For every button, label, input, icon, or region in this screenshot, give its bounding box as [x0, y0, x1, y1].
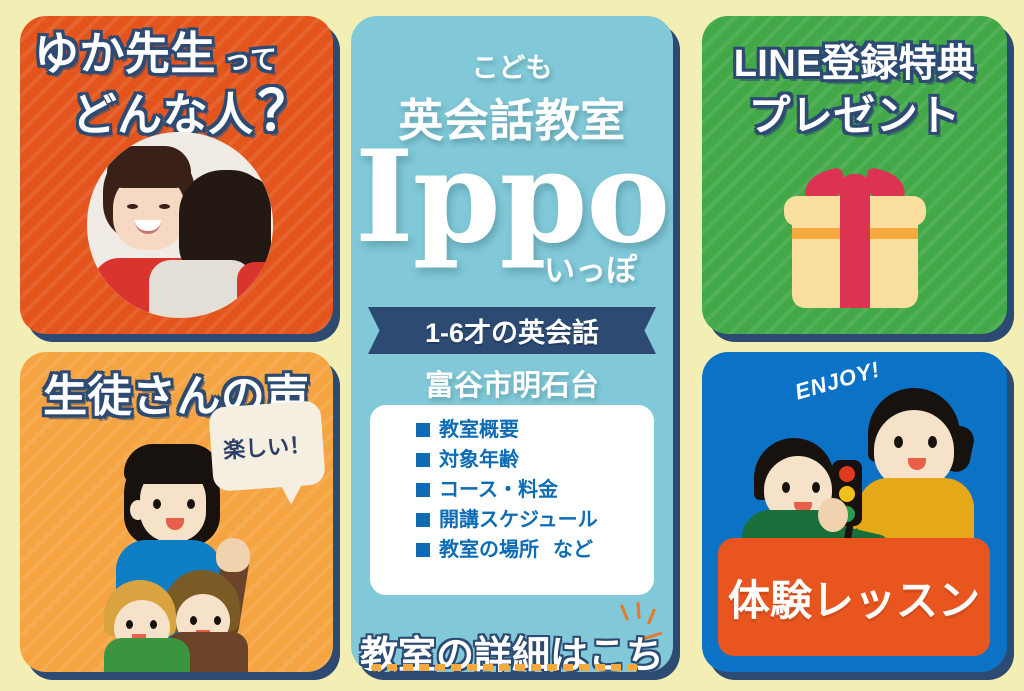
poster-root: ゆか先生って どんな人？ — [0, 0, 1024, 691]
list-item[interactable]: 教室概要 — [416, 419, 654, 441]
main-card-inner: こども 英会話教室 Ippo いっぽ 1-6才の英会話 富谷市明石台 教室概要 … — [351, 16, 673, 672]
info-list: 教室概要 対象年齢 コース・料金 開講スケジュール 教室の場所 など — [370, 405, 654, 595]
line-bonus-card[interactable]: LINE登録特典 プレゼント — [702, 16, 1007, 334]
gift-ribbon-vertical — [840, 190, 870, 308]
speech-bubble-text: 楽しい！ — [222, 427, 312, 465]
teacher-photo — [87, 132, 273, 318]
trial-lesson-banner[interactable]: 体験レッスン — [718, 538, 990, 656]
list-item[interactable]: 対象年齢 — [416, 449, 654, 471]
child2-eye-right — [214, 616, 221, 625]
square-bullet-icon — [416, 453, 430, 467]
girl-eye-right — [928, 436, 937, 448]
list-item[interactable]: 開講スケジュール — [416, 509, 654, 531]
square-bullet-icon — [416, 423, 430, 437]
square-bullet-icon — [416, 483, 430, 497]
square-bullet-icon — [416, 513, 430, 527]
mother-ear — [130, 500, 146, 520]
girl-eye-left — [894, 436, 903, 448]
square-bullet-icon — [416, 543, 430, 557]
age-range-ribbon-text: 1-6才の英会話 — [425, 311, 599, 350]
trial-lesson-banner-text: 体験レッスン — [728, 567, 980, 628]
teacher-arm — [237, 262, 273, 318]
traffic-light-red — [839, 466, 855, 482]
teacher-eye-left — [127, 204, 138, 209]
boy-eye-left — [782, 482, 790, 493]
child2-eye-left — [190, 616, 197, 625]
child1-torso — [104, 638, 190, 672]
teacher-headline: ゆか先生って どんな人？ — [20, 30, 333, 140]
line-card-inner: LINE登録特典 プレゼント — [702, 16, 1007, 334]
child2-hand — [216, 538, 250, 572]
list-item[interactable]: コース・料金 — [416, 479, 654, 501]
teacher-card-inner: ゆか先生って どんな人？ — [20, 16, 333, 334]
mother-eye-left — [153, 499, 161, 509]
gift-box-icon — [784, 168, 926, 308]
list-item[interactable]: 教室の場所 など — [416, 539, 654, 561]
boy-eye-right — [812, 482, 820, 493]
teacher-intro-card[interactable]: ゆか先生って どんな人？ — [20, 16, 333, 334]
brand-logo: Ippo — [351, 134, 673, 260]
brand-logo-kana: いっぽ — [544, 245, 637, 290]
line-headline-line2: プレゼント — [702, 94, 1007, 139]
child-hair-tuft — [237, 178, 267, 208]
main-school-card[interactable]: こども 英会話教室 Ippo いっぽ 1-6才の英会話 富谷市明石台 教室概要 … — [351, 16, 673, 672]
girl-face — [874, 410, 954, 488]
trial-lesson-card[interactable]: ENJOY! — [702, 352, 1007, 672]
student-voices-card[interactable]: 生徒さんの声 — [20, 352, 333, 672]
mother-eye-right — [187, 499, 195, 509]
girl-hand — [818, 498, 848, 532]
teacher-bangs — [107, 146, 191, 188]
list-item-label: 対象年齢 — [439, 449, 519, 471]
list-item-label: 教室の場所 — [439, 539, 539, 561]
voices-card-inner: 生徒さんの声 — [20, 352, 333, 672]
child1-eye-right — [150, 620, 157, 629]
teacher-eye-right — [159, 204, 170, 209]
list-item-label: 教室概要 — [439, 419, 519, 441]
list-item-label: コース・料金 — [439, 479, 558, 501]
main-sub-label: こども — [351, 46, 673, 85]
location-label: 富谷市明石台 — [351, 362, 673, 404]
list-item-suffix: など — [553, 539, 593, 561]
list-item-label: 開講スケジュール — [439, 509, 598, 531]
mother-bangs — [124, 444, 220, 484]
teacher-headline-name: ゆか先生 — [34, 28, 216, 79]
cta-underline-decoration — [371, 664, 641, 671]
child1-eye-left — [126, 620, 133, 629]
traffic-light-yellow — [839, 486, 855, 502]
line-headline-line1: LINE登録特典 — [702, 44, 1007, 84]
teacher-headline-line1: ゆか先生って — [34, 30, 319, 78]
speech-bubble: 楽しい！ — [208, 400, 326, 492]
age-range-ribbon: 1-6才の英会話 — [368, 307, 656, 354]
trial-card-inner: ENJOY! — [702, 352, 1007, 672]
teacher-headline-particle: って — [224, 45, 278, 75]
